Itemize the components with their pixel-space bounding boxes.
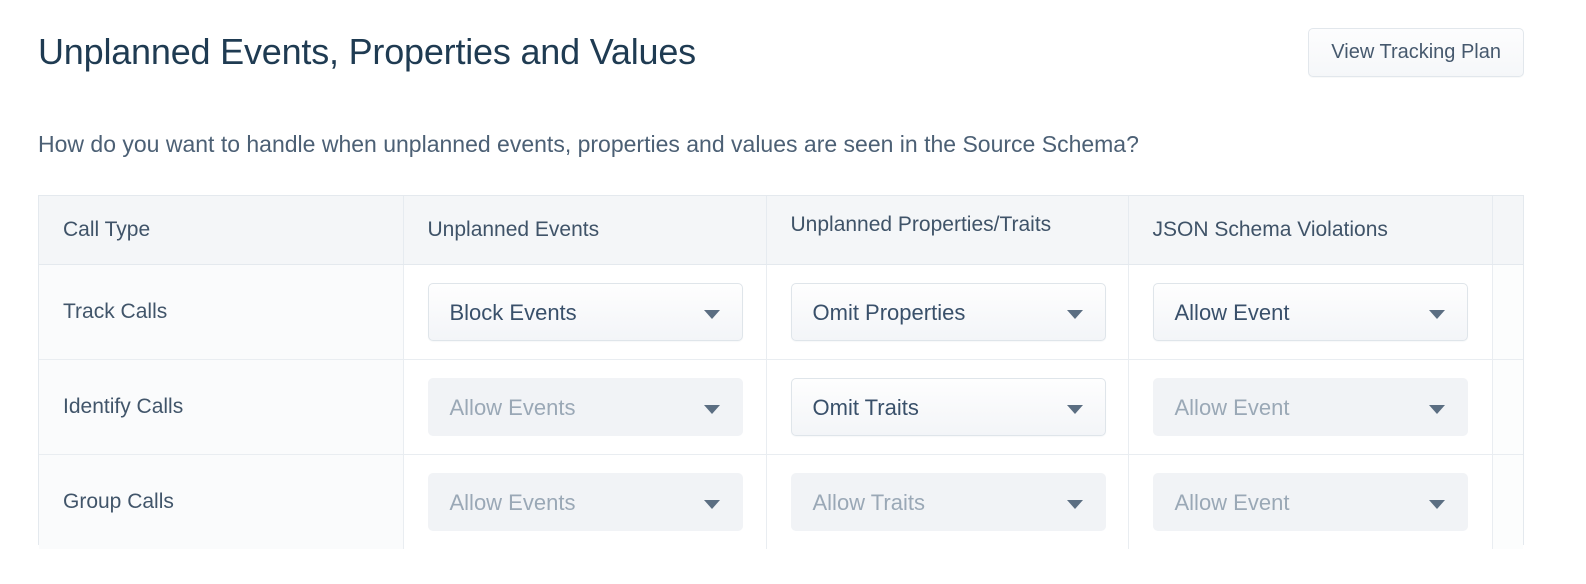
- chevron-down-icon: [1429, 310, 1445, 319]
- table-header-row: Call Type Unplanned Events Unplanned Pro…: [39, 196, 1523, 264]
- select-value: Allow Event: [1175, 474, 1290, 532]
- select-value: Allow Events: [450, 474, 576, 532]
- page-title: Unplanned Events, Properties and Values: [38, 28, 696, 74]
- select-group-unplanned-events[interactable]: Allow Events: [428, 473, 743, 531]
- chevron-down-icon: [1429, 500, 1445, 509]
- cell-unplanned-properties: Omit Traits: [766, 359, 1128, 454]
- chevron-down-icon: [1067, 405, 1083, 414]
- select-value: Allow Events: [450, 379, 576, 437]
- cell-spacer: [1492, 359, 1523, 454]
- select-group-json-violations[interactable]: Allow Event: [1153, 473, 1468, 531]
- select-value: Allow Event: [1175, 284, 1290, 342]
- select-track-unplanned-events[interactable]: Block Events: [428, 283, 743, 341]
- cell-json-violations: Allow Event: [1128, 359, 1492, 454]
- page-header: Unplanned Events, Properties and Values …: [38, 28, 1524, 98]
- chevron-down-icon: [704, 310, 720, 319]
- select-value: Omit Properties: [813, 284, 966, 342]
- row-label-identify-calls: Identify Calls: [39, 359, 403, 454]
- column-header-json-schema-violations: JSON Schema Violations: [1128, 196, 1492, 264]
- row-label-group-calls: Group Calls: [39, 454, 403, 549]
- cell-unplanned-properties: Omit Properties: [766, 264, 1128, 359]
- unplanned-events-settings-page: Unplanned Events, Properties and Values …: [0, 0, 1586, 584]
- chevron-down-icon: [1067, 500, 1083, 509]
- table-row: Identify Calls Allow Events Omit Traits: [39, 359, 1523, 454]
- chevron-down-icon: [1067, 310, 1083, 319]
- row-label-track-calls: Track Calls: [39, 264, 403, 359]
- table-header: Call Type Unplanned Events Unplanned Pro…: [39, 196, 1523, 264]
- chevron-down-icon: [704, 500, 720, 509]
- select-identify-unplanned-traits[interactable]: Omit Traits: [791, 378, 1106, 436]
- select-track-json-violations[interactable]: Allow Event: [1153, 283, 1468, 341]
- select-value: Omit Traits: [813, 379, 919, 437]
- column-header-spacer: [1492, 196, 1523, 264]
- cell-unplanned-events: Block Events: [403, 264, 766, 359]
- table-body: Track Calls Block Events Omit Properties: [39, 264, 1523, 549]
- cell-json-violations: Allow Event: [1128, 454, 1492, 549]
- select-identify-unplanned-events[interactable]: Allow Events: [428, 378, 743, 436]
- page-description: How do you want to handle when unplanned…: [38, 128, 1139, 160]
- cell-json-violations: Allow Event: [1128, 264, 1492, 359]
- unplanned-handling-table: Call Type Unplanned Events Unplanned Pro…: [38, 195, 1524, 545]
- select-identify-json-violations[interactable]: Allow Event: [1153, 378, 1468, 436]
- table-row: Track Calls Block Events Omit Properties: [39, 264, 1523, 359]
- chevron-down-icon: [1429, 405, 1445, 414]
- cell-unplanned-events: Allow Events: [403, 359, 766, 454]
- select-value: Allow Traits: [813, 474, 925, 532]
- column-header-unplanned-events: Unplanned Events: [403, 196, 766, 264]
- select-value: Allow Event: [1175, 379, 1290, 437]
- select-value: Block Events: [450, 284, 577, 342]
- table-row: Group Calls Allow Events Allow Traits: [39, 454, 1523, 549]
- select-track-unplanned-properties[interactable]: Omit Properties: [791, 283, 1106, 341]
- view-tracking-plan-button[interactable]: View Tracking Plan: [1308, 28, 1524, 77]
- cell-spacer: [1492, 454, 1523, 549]
- chevron-down-icon: [704, 405, 720, 414]
- select-group-unplanned-traits[interactable]: Allow Traits: [791, 473, 1106, 531]
- cell-spacer: [1492, 264, 1523, 359]
- cell-unplanned-events: Allow Events: [403, 454, 766, 549]
- column-header-call-type: Call Type: [39, 196, 403, 264]
- settings-table: Call Type Unplanned Events Unplanned Pro…: [39, 196, 1523, 549]
- cell-unplanned-properties: Allow Traits: [766, 454, 1128, 549]
- column-header-unplanned-properties-traits: Unplanned Properties/Traits: [766, 196, 1128, 264]
